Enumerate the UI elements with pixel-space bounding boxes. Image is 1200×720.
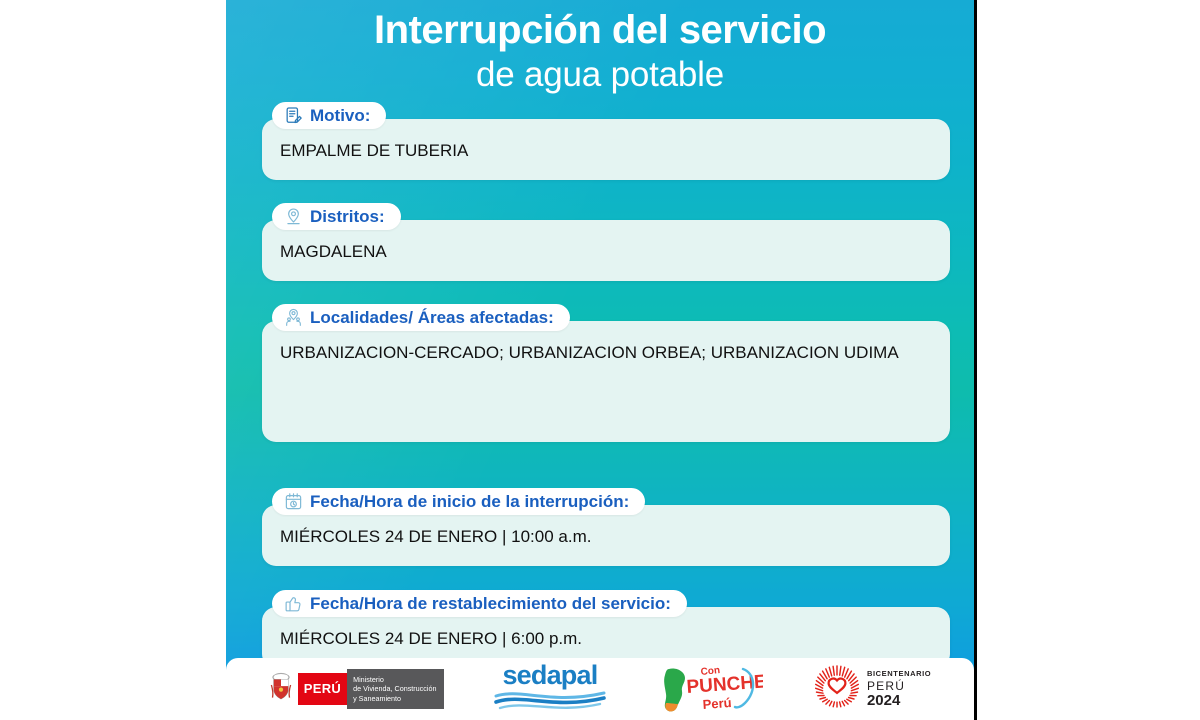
service-interruption-poster: Interrupción del servicio de agua potabl… (226, 0, 977, 720)
bicentenario-text: BICENTENARIO PERÚ 2024 (867, 670, 931, 708)
ministerio-vivienda-logo: PERÚ Ministerio de Vivienda, Construcció… (269, 669, 445, 709)
location-pin-icon (284, 207, 303, 226)
sedapal-waves-icon (494, 689, 606, 716)
person-location-icon (284, 308, 303, 327)
field-motivo-label-chip: Motivo: (272, 102, 386, 129)
footer-logo-bar: PERÚ Ministerio de Vivienda, Construcció… (226, 658, 974, 720)
poster-header: Interrupción del servicio de agua potabl… (226, 0, 974, 96)
field-localidades-value: URBANIZACION-CERCADO; URBANIZACION ORBEA… (262, 321, 950, 442)
bicentenario-sunburst-icon (813, 663, 861, 716)
bicentenario-line-1: BICENTENARIO (867, 670, 931, 678)
sedapal-wordmark: sedapal (502, 662, 597, 689)
peru-coat-of-arms-icon (269, 671, 293, 706)
peru-map-icon (665, 669, 686, 712)
field-localidades: Localidades/ Áreas afectadas: URBANIZACI… (262, 304, 950, 442)
sedapal-logo: sedapal (494, 662, 606, 716)
screenshot-canvas: Interrupción del servicio de agua potabl… (0, 0, 1200, 720)
field-distritos-label: Distritos: (310, 206, 385, 227)
field-motivo-label: Motivo: (310, 105, 370, 126)
field-restablecimiento: Fecha/Hora de restablecimiento del servi… (262, 590, 950, 668)
field-distritos-label-chip: Distritos: (272, 203, 401, 230)
ministerio-peru-tag: PERÚ (298, 673, 347, 705)
field-restablecimiento-label-chip: Fecha/Hora de restablecimiento del servi… (272, 590, 687, 617)
field-restablecimiento-label: Fecha/Hora de restablecimiento del servi… (310, 593, 671, 614)
thumbs-up-icon (284, 594, 303, 613)
ministerio-line-2: de Vivienda, Construcción (353, 684, 436, 693)
document-pencil-icon (284, 106, 303, 125)
ministerio-line-1: Ministerio (353, 675, 436, 684)
field-inicio-interrupcion: Fecha/Hora de inicio de la interrupción:… (262, 488, 950, 566)
calendar-clock-icon (284, 492, 303, 511)
ministerio-name-tag: Ministerio de Vivienda, Construcción y S… (347, 669, 444, 709)
field-motivo: Motivo: EMPALME DE TUBERIA (262, 102, 950, 180)
field-inicio-label: Fecha/Hora de inicio de la interrupción: (310, 491, 629, 512)
ministerio-line-3: y Saneamiento (353, 694, 436, 703)
field-localidades-label: Localidades/ Áreas afectadas: (310, 307, 554, 328)
bicentenario-peru-logo: BICENTENARIO PERÚ 2024 (813, 663, 931, 716)
field-localidades-label-chip: Localidades/ Áreas afectadas: (272, 304, 570, 331)
page-title: Interrupción del servicio (226, 6, 974, 54)
page-subtitle: de agua potable (226, 54, 974, 96)
field-list: Motivo: EMPALME DE TUBERIA Distritos: (226, 102, 974, 668)
field-inicio-label-chip: Fecha/Hora de inicio de la interrupción: (272, 488, 645, 515)
punche-line-3: Perú (703, 695, 733, 712)
con-punche-peru-logo: Con PUNCHE Perú (655, 663, 763, 715)
bicentenario-line-2: PERÚ (867, 680, 931, 692)
field-distritos: Distritos: MAGDALENA (262, 203, 950, 281)
bicentenario-line-3: 2024 (867, 693, 931, 708)
